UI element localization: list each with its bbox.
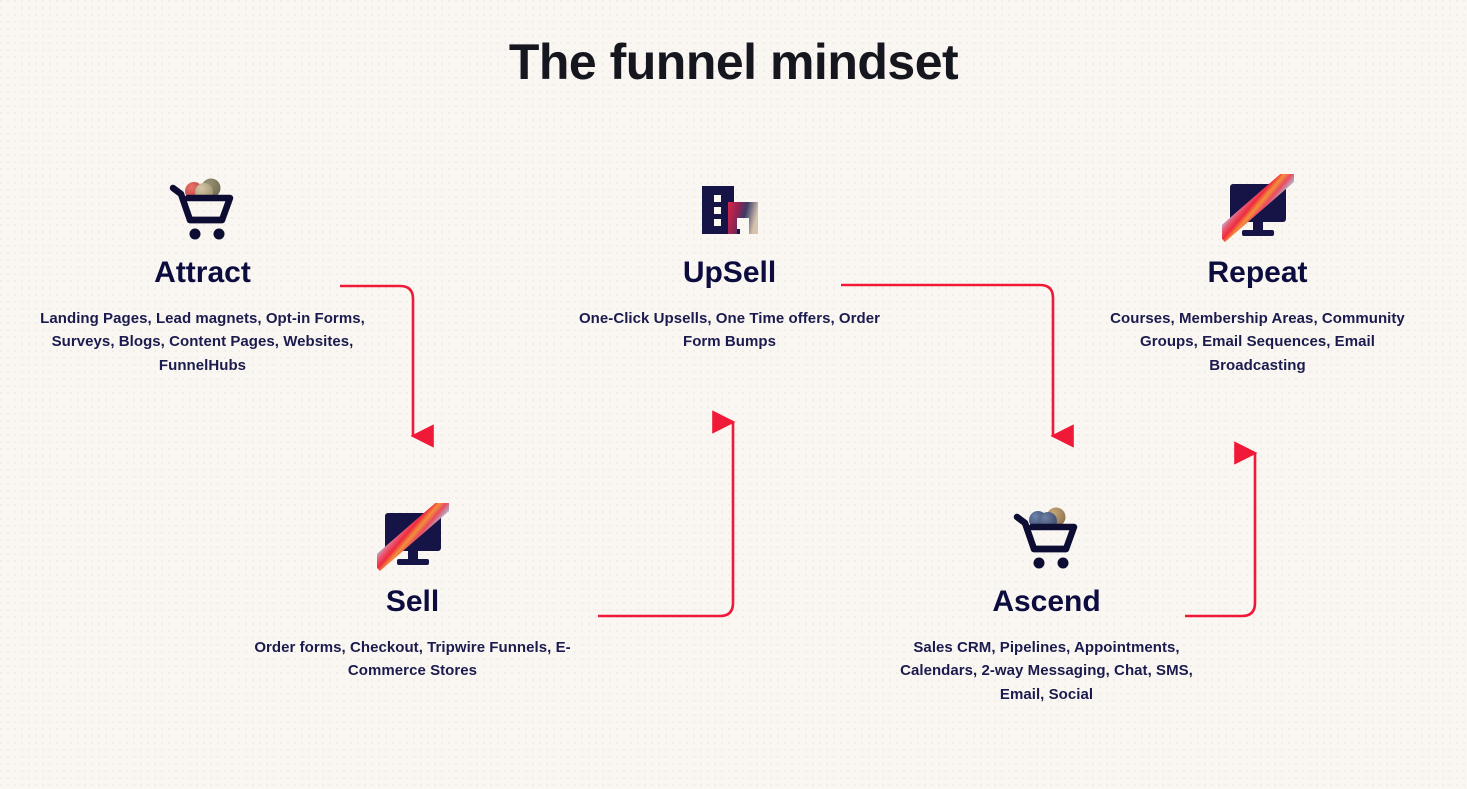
shopping-cart-icon: [40, 170, 365, 246]
stage-description: One-Click Upsells, One Time offers, Orde…: [567, 307, 892, 354]
funnel-stage-attract[interactable]: Attract Landing Pages, Lead magnets, Opt…: [40, 170, 365, 377]
funnel-stage-repeat[interactable]: Repeat Courses, Membership Areas, Commun…: [1095, 170, 1420, 377]
stage-title: Attract: [40, 256, 365, 289]
funnel-stage-upsell[interactable]: UpSell One-Click Upsells, One Time offer…: [567, 170, 892, 354]
page-title: The funnel mindset: [0, 36, 1467, 89]
office-building-icon: [567, 170, 892, 246]
funnel-stage-sell[interactable]: Sell Order forms, Checkout, Tripwire Fun…: [250, 499, 575, 683]
stage-title: Repeat: [1095, 256, 1420, 289]
stage-description: Courses, Membership Areas, Community Gro…: [1095, 307, 1420, 377]
funnel-stage-ascend[interactable]: Ascend Sales CRM, Pipelines, Appointment…: [884, 499, 1209, 706]
stage-title: UpSell: [567, 256, 892, 289]
stage-title: Ascend: [884, 585, 1209, 618]
stage-title: Sell: [250, 585, 575, 618]
stage-description: Order forms, Checkout, Tripwire Funnels,…: [250, 636, 575, 683]
desktop-monitor-icon: [250, 499, 575, 575]
shopping-cart-icon: [884, 499, 1209, 575]
stage-description: Sales CRM, Pipelines, Appointments, Cale…: [884, 636, 1209, 706]
stage-description: Landing Pages, Lead magnets, Opt-in Form…: [40, 307, 365, 377]
desktop-monitor-icon: [1095, 170, 1420, 246]
